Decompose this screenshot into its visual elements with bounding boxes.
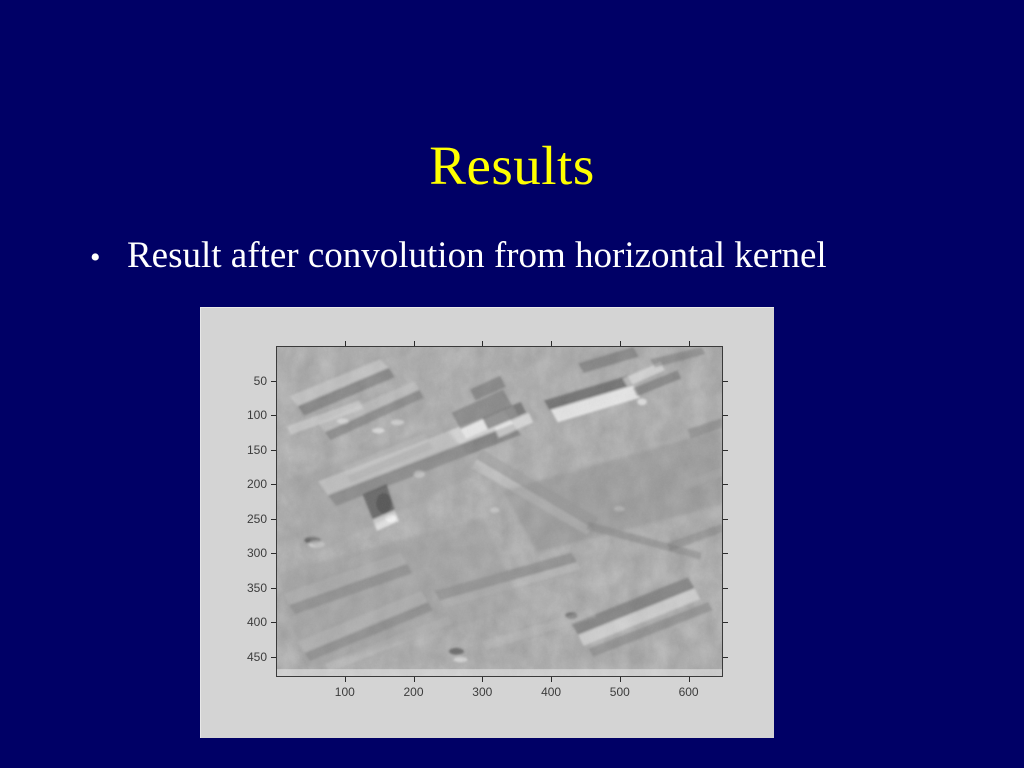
y-tick-label-50: 50 <box>254 375 267 387</box>
x-tick-100 <box>345 677 346 682</box>
y-tick-450 <box>271 657 276 658</box>
bullet-list-item: • Result after convolution from horizont… <box>82 233 982 281</box>
figure-panel: 50 100 150 200 250 300 350 400 4 <box>200 307 774 738</box>
bullet-item-label: Result after convolution from horizontal… <box>127 233 827 279</box>
x-tick-400-top <box>551 341 552 346</box>
y-tick-150 <box>271 450 276 451</box>
y-tick-450-right <box>723 657 728 658</box>
y-tick-250 <box>271 519 276 520</box>
x-tick-100-top <box>345 341 346 346</box>
y-tick-label-350: 350 <box>247 582 267 594</box>
x-tick-label-500: 500 <box>610 686 630 698</box>
y-tick-350 <box>271 588 276 589</box>
y-tick-label-450: 450 <box>247 651 267 663</box>
y-tick-label-200: 200 <box>247 478 267 490</box>
y-tick-100-right <box>723 415 728 416</box>
y-tick-400-right <box>723 622 728 623</box>
x-tick-label-400: 400 <box>541 686 561 698</box>
y-tick-50-right <box>723 381 728 382</box>
x-tick-400 <box>551 677 552 682</box>
x-tick-label-200: 200 <box>403 686 423 698</box>
y-tick-label-300: 300 <box>247 547 267 559</box>
y-tick-400 <box>271 622 276 623</box>
x-tick-label-300: 300 <box>472 686 492 698</box>
x-tick-600 <box>689 677 690 682</box>
y-tick-250-right <box>723 519 728 520</box>
y-tick-label-100: 100 <box>247 409 267 421</box>
x-tick-200 <box>414 677 415 682</box>
presentation-slide: Results • Result after convolution from … <box>0 0 1024 768</box>
y-tick-100 <box>271 415 276 416</box>
bullet-point-icon: • <box>82 235 127 281</box>
page-title: Results <box>0 135 1024 197</box>
y-tick-150-right <box>723 450 728 451</box>
x-tick-label-600: 600 <box>679 686 699 698</box>
convolution-result-image <box>276 346 723 677</box>
y-tick-label-250: 250 <box>247 513 267 525</box>
x-tick-200-top <box>414 341 415 346</box>
y-tick-label-400: 400 <box>247 616 267 628</box>
x-tick-300-top <box>482 341 483 346</box>
x-tick-500 <box>620 677 621 682</box>
y-tick-50 <box>271 381 276 382</box>
y-tick-200-right <box>723 484 728 485</box>
y-tick-350-right <box>723 588 728 589</box>
x-tick-500-top <box>620 341 621 346</box>
x-tick-label-100: 100 <box>335 686 355 698</box>
x-tick-600-top <box>689 341 690 346</box>
x-tick-300 <box>482 677 483 682</box>
y-tick-300-right <box>723 553 728 554</box>
y-tick-200 <box>271 484 276 485</box>
plot-axes: 50 100 150 200 250 300 350 400 4 <box>276 346 723 677</box>
y-tick-300 <box>271 553 276 554</box>
y-tick-label-150: 150 <box>247 444 267 456</box>
